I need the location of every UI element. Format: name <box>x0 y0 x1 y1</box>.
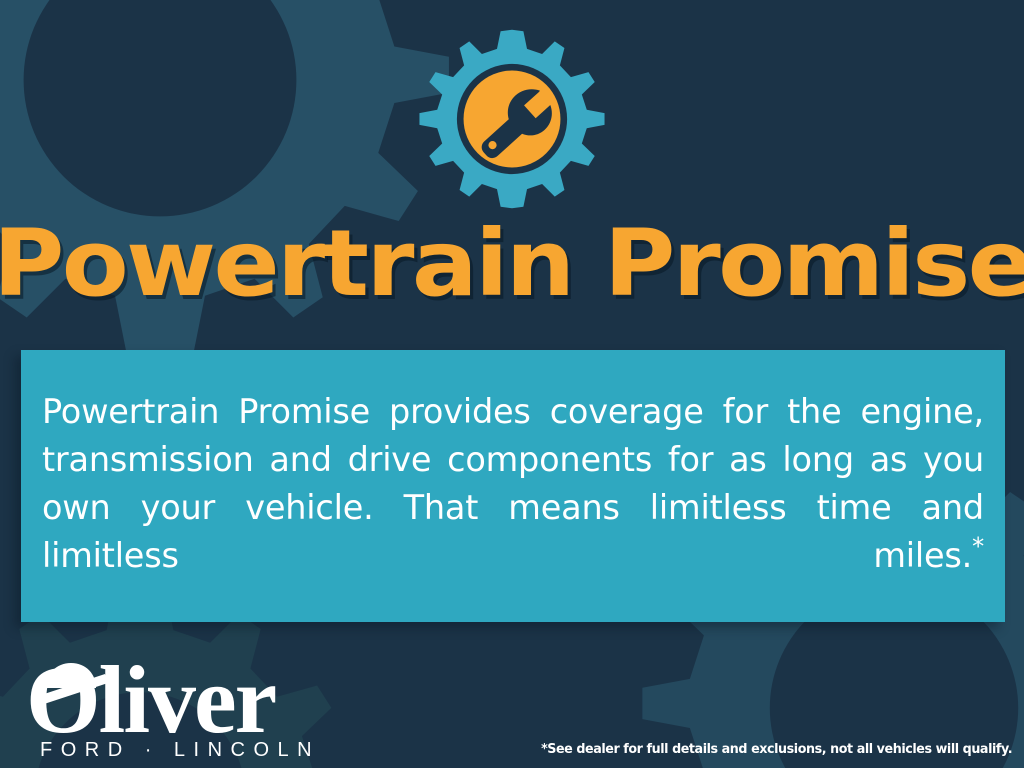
description-panel: Powertrain Promise provides coverage for… <box>21 350 1005 622</box>
asterisk-marker: * <box>972 532 984 560</box>
description-text: Powertrain Promise provides coverage for… <box>42 388 984 628</box>
disclaimer-text: *See dealer for full details and exclusi… <box>541 741 1012 757</box>
gear-watermark-icon <box>0 0 470 390</box>
page-title: Powertrain Promise <box>0 218 1024 310</box>
dealer-logo[interactable]: Oliver FORD · LINCOLN <box>26 657 326 762</box>
logo-wordmark: Oliver <box>26 657 326 743</box>
promotional-slide: Powertrain Promise Powertrain Promise pr… <box>0 0 1024 768</box>
logo-wordmark-group: Oliver <box>26 657 326 743</box>
description-body: Powertrain Promise provides coverage for… <box>42 392 984 575</box>
gear-wrench-icon <box>417 24 607 214</box>
